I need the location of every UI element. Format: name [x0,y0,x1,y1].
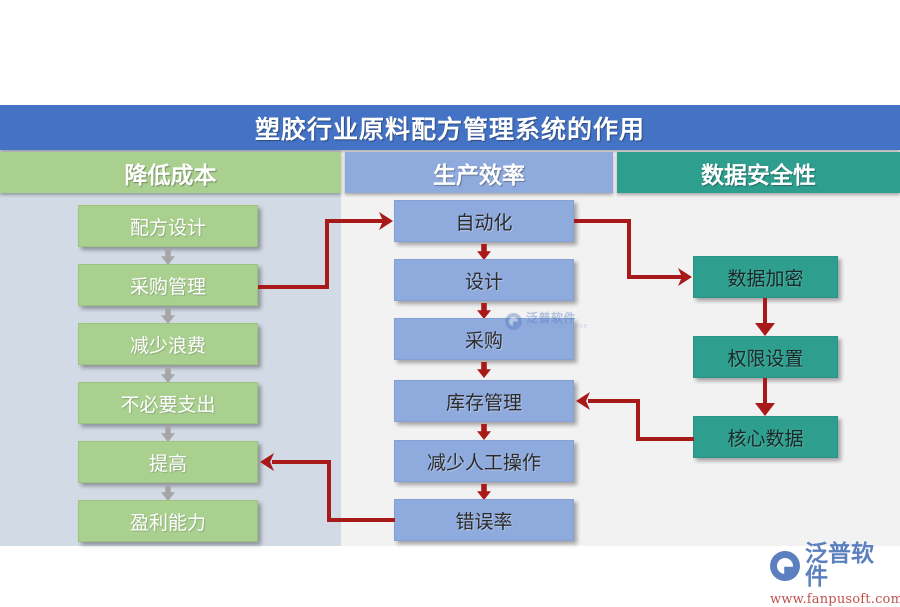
node-security-3[interactable]: 核心数据 [693,416,838,458]
connector-line [763,378,767,404]
node-security-1[interactable]: 数据加密 [693,256,838,298]
connector-line [763,298,767,325]
crosslink-purchase-to-automation-segment [325,219,383,223]
node-cost-6[interactable]: 盈利能力 [78,500,258,542]
node-cost-5[interactable]: 提高 [78,441,258,483]
node-efficiency-1[interactable]: 自动化 [394,200,574,242]
crosslink-automation-to-encryption-segment [574,219,631,223]
node-cost-2[interactable]: 采购管理 [78,264,258,306]
brand-logo-row: 泛普软件 [770,543,895,589]
node-efficiency-2[interactable]: 设计 [394,259,574,301]
column-header-efficiency: 生产效率 [345,152,613,193]
crosslink-errorrate-to-improve-segment [272,460,331,464]
crosslink-automation-to-encryption-segment [627,275,682,279]
node-efficiency-3[interactable]: 采购 [394,318,574,360]
crosslink-coredata-to-inventory-segment [588,399,640,403]
brand-swoosh-icon [770,551,800,581]
crosslink-coredata-to-inventory-segment [636,399,640,441]
crosslink-purchase-to-automation-segment [258,285,329,289]
diagram-canvas: 塑胶行业原料配方管理系统的作用 降低成本 生产效率 数据安全性 配方设计 采购管… [0,0,900,600]
column-header-security: 数据安全性 [617,152,900,193]
node-security-2[interactable]: 权限设置 [693,336,838,378]
crosslink-errorrate-to-improve-segment [327,518,395,522]
crosslink-automation-to-encryption-segment [627,219,631,277]
crosslink-purchase-to-automation-segment [325,219,329,289]
column-header-cost: 降低成本 [0,152,341,193]
node-cost-4[interactable]: 不必要支出 [78,382,258,424]
brand-name: 泛普软件 [805,543,895,589]
node-efficiency-6[interactable]: 错误率 [394,499,574,541]
diagram-title-bar: 塑胶行业原料配方管理系统的作用 [0,105,900,150]
brand-logo: 泛普软件 www.fanpusoft.com [770,543,895,593]
node-cost-3[interactable]: 减少浪费 [78,323,258,365]
page-title: 塑胶行业原料配方管理系统的作用 [0,105,900,150]
crosslink-errorrate-to-improve-segment [327,460,331,522]
crosslink-coredata-to-inventory-segment [636,437,694,441]
node-efficiency-4[interactable]: 库存管理 [394,380,574,422]
node-cost-1[interactable]: 配方设计 [78,205,258,247]
node-efficiency-5[interactable]: 减少人工操作 [394,440,574,482]
